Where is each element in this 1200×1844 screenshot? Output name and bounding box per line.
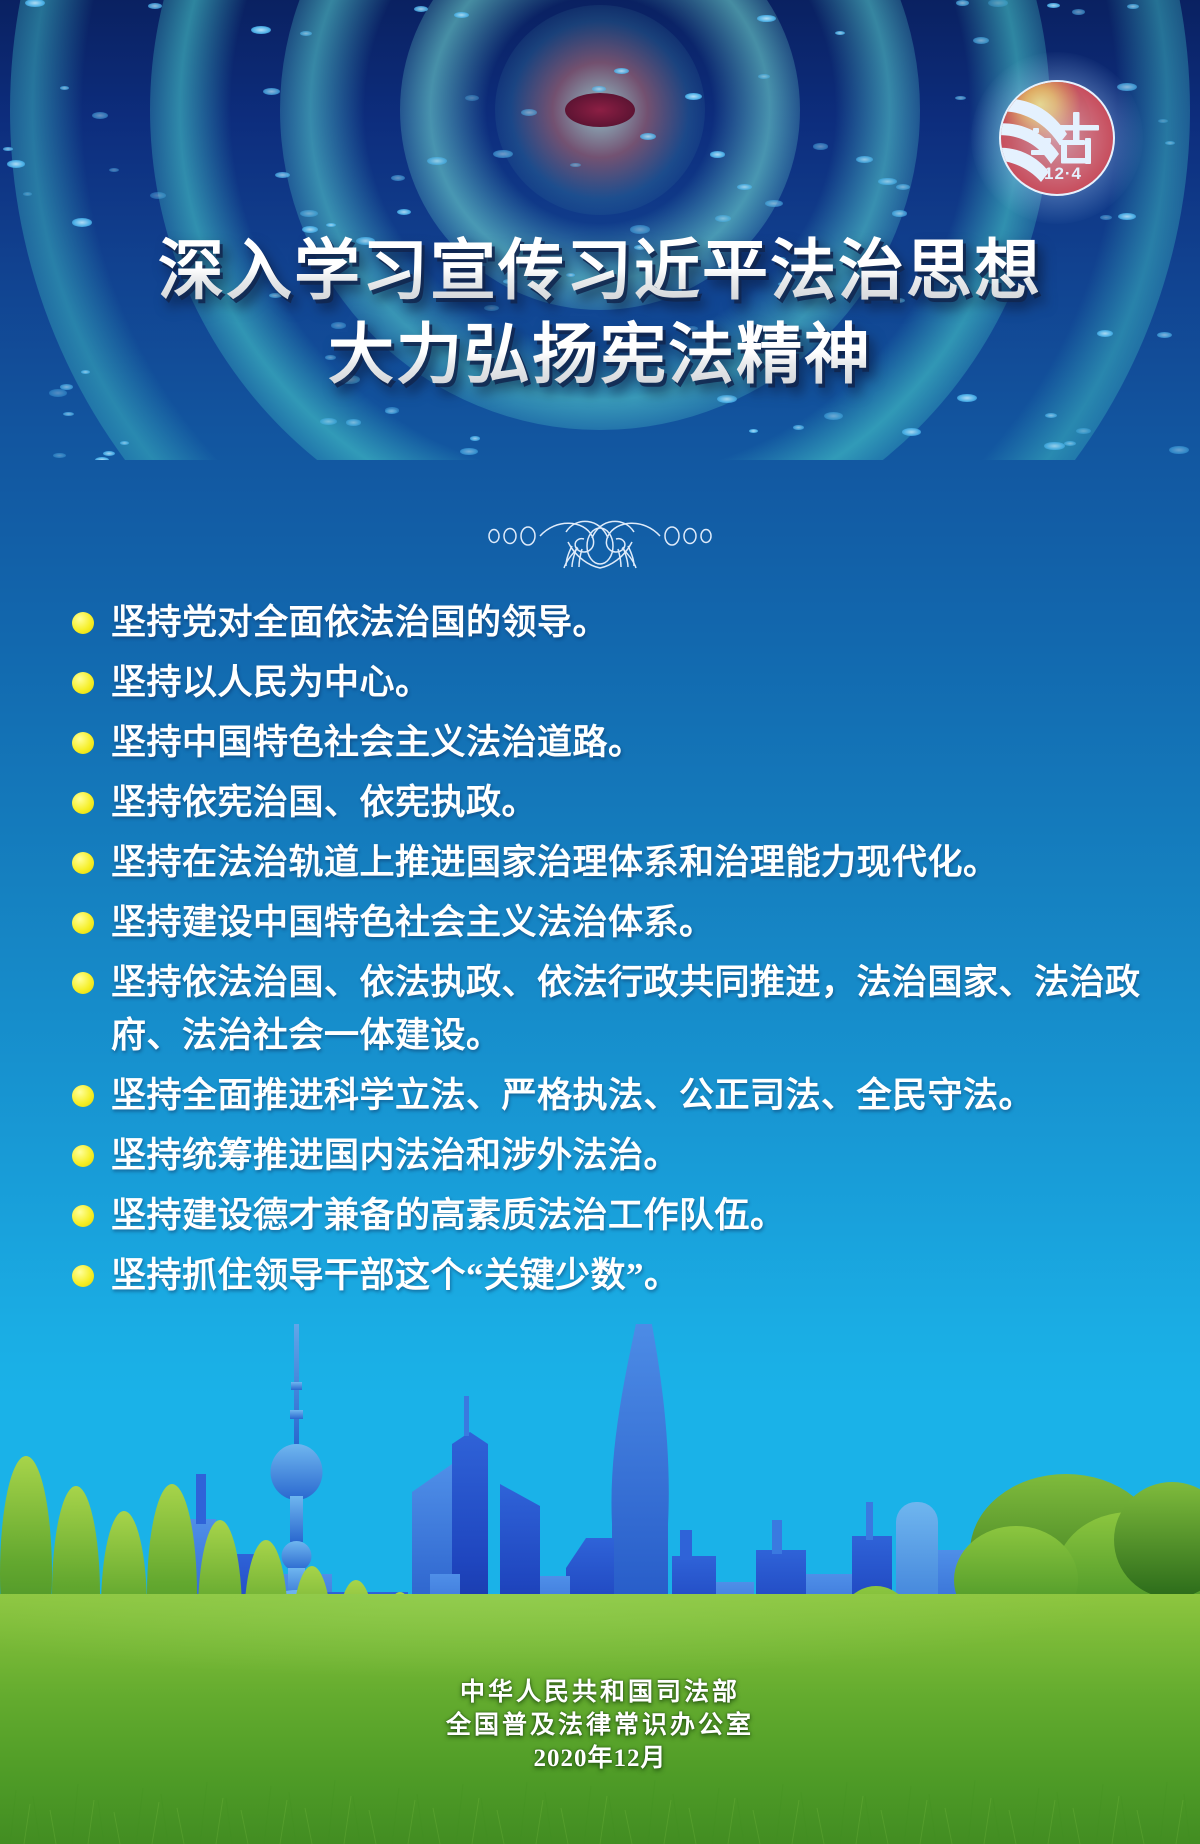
list-item-text: 坚持党对全面依法治国的领导。 — [111, 596, 608, 649]
starfield-dot — [25, 0, 45, 7]
starfield-dot — [793, 425, 804, 430]
starfield-dot — [710, 151, 725, 157]
list-item: 坚持党对全面依法治国的领导。 — [72, 596, 1152, 649]
flourish-icon — [0, 512, 1200, 576]
starfield-dot — [835, 31, 845, 35]
starfield-dot — [1158, 119, 1168, 123]
starfield-dot — [251, 26, 271, 34]
starfield-dot — [3, 147, 12, 151]
footer-credits: 中华人民共和国司法部 全国普及法律常识办公室 2020年12月 — [0, 1676, 1200, 1776]
starfield-dot — [320, 418, 337, 425]
starfield-dot — [493, 150, 513, 158]
starfield-dot — [300, 31, 312, 36]
starfield-dot — [1118, 213, 1136, 221]
bullet-dot-icon — [72, 1085, 94, 1107]
starfield-dot — [955, 96, 965, 100]
starfield-dot — [1045, 413, 1057, 418]
starfield-dot — [385, 409, 397, 414]
starfield-dot — [988, 0, 1008, 7]
list-item: 坚持以人民为中心。 — [72, 656, 1152, 709]
starfield-dot — [1165, 141, 1174, 145]
emblem-glow — [971, 52, 1143, 224]
ornamental-divider — [0, 512, 1200, 576]
starfield-dot — [53, 453, 66, 459]
starfield-dot — [326, 223, 336, 227]
list-item-text: 坚持统筹推进国内法治和涉外法治。 — [111, 1129, 679, 1182]
starfield-dot — [856, 156, 874, 164]
starfield-dot — [1072, 9, 1086, 15]
starfield-dot — [1169, 446, 1189, 454]
bullet-dot-icon — [72, 1205, 94, 1227]
starfield-dot — [109, 168, 119, 172]
list-item: 坚持建设德才兼备的高素质法治工作队伍。 — [72, 1189, 1152, 1242]
poster-canvas: 12·4 深入学习宣传习近平法治思想 大力弘扬宪法精神 — [0, 0, 1200, 1844]
bullet-dot-icon — [72, 612, 94, 634]
starfield-dot — [414, 6, 428, 12]
starfield-dot — [148, 3, 161, 9]
starfield-dot — [92, 112, 108, 119]
starfield-dot — [892, 210, 907, 216]
bullet-dot-icon — [72, 792, 94, 814]
list-item: 坚持全面推进科学立法、严格执法、公正司法、全民守法。 — [72, 1069, 1152, 1122]
footer-organization: 中华人民共和国司法部 — [0, 1676, 1200, 1709]
starfield-dot — [275, 172, 290, 178]
starfield-dot — [103, 451, 115, 456]
title-line-1: 深入学习宣传习近平法治思想 — [0, 228, 1200, 312]
list-item-text: 坚持在法治轨道上推进国家治理体系和治理能力现代化。 — [111, 836, 999, 889]
list-item-text: 坚持中国特色社会主义法治道路。 — [111, 716, 644, 769]
starfield-dot — [72, 218, 92, 226]
starfield-dot — [1047, 3, 1060, 8]
starfield-dot — [973, 37, 989, 44]
starfield-dot — [1127, 4, 1138, 9]
starfield-dot — [23, 192, 32, 196]
starfield-dot — [685, 93, 701, 100]
starfield-dot — [592, 86, 606, 92]
starfield-dot — [465, 95, 480, 101]
starfield-dot — [1100, 215, 1111, 220]
footer-date: 2020年12月 — [0, 1742, 1200, 1776]
principles-list: 坚持党对全面依法治国的领导。坚持以人民为中心。坚持中国特色社会主义法治道路。坚持… — [72, 596, 1152, 1309]
starfield-dot — [715, 215, 731, 222]
list-item-text: 坚持依宪治国、依宪执政。 — [111, 776, 537, 829]
bullet-dot-icon — [72, 972, 94, 994]
starfield-dot — [1064, 441, 1076, 446]
constitution-day-emblem: 12·4 — [997, 78, 1117, 198]
bullet-dot-icon — [72, 912, 94, 934]
starfield-dot — [460, 448, 478, 456]
starfield-dot — [1076, 428, 1091, 434]
starfield-dot — [63, 412, 74, 417]
list-item: 坚持依宪治国、依宪执政。 — [72, 776, 1152, 829]
starfield-dot — [640, 133, 656, 140]
starfield-dot — [150, 192, 166, 199]
bullet-dot-icon — [72, 852, 94, 874]
list-item-text: 坚持依法治国、依法执政、依法行政共同推进，法治国家、法治政府、法治社会一体建设。 — [111, 956, 1152, 1062]
bullet-dot-icon — [72, 672, 94, 694]
starfield-dot — [765, 200, 783, 207]
starfield-dot — [749, 429, 758, 433]
starfield-dot — [757, 15, 776, 23]
starfield-dot — [7, 160, 26, 168]
starfield-dot — [397, 209, 412, 215]
starfield-dot — [570, 163, 581, 168]
bullet-dot-icon — [72, 732, 94, 754]
list-item: 坚持在法治轨道上推进国家治理体系和治理能力现代化。 — [72, 836, 1152, 889]
starfield-dot — [1044, 442, 1064, 451]
list-item-text: 坚持以人民为中心。 — [111, 656, 431, 709]
bullet-dot-icon — [72, 1145, 94, 1167]
starfield-dot — [737, 184, 752, 191]
list-item: 坚持统筹推进国内法治和涉外法治。 — [72, 1129, 1152, 1182]
starfield-dot — [470, 436, 481, 441]
starfield-dot — [896, 184, 910, 190]
starfield-dot — [956, 0, 969, 5]
starfield-dot — [60, 86, 69, 90]
starfield-dot — [454, 12, 469, 18]
list-item-text: 坚持全面推进科学立法、严格执法、公正司法、全民守法。 — [111, 1069, 1034, 1122]
starfield-dot — [391, 175, 405, 181]
list-item-text: 坚持建设德才兼备的高素质法治工作队伍。 — [111, 1189, 786, 1242]
starfield-dot — [521, 109, 537, 116]
starfield-dot — [824, 412, 843, 420]
title-line-2: 大力弘扬宪法精神 — [0, 312, 1200, 396]
starfield-dot — [346, 419, 361, 426]
list-item-text: 坚持建设中国特色社会主义法治体系。 — [111, 896, 715, 949]
footer-office: 全国普及法律常识办公室 — [0, 1709, 1200, 1742]
list-item: 坚持中国特色社会主义法治道路。 — [72, 716, 1152, 769]
starfield-dot — [813, 143, 829, 150]
starfield-dot — [614, 68, 629, 74]
starfield-dot — [902, 428, 921, 436]
starfield-dot — [427, 157, 447, 165]
list-item: 坚持依法治国、依法执政、依法行政共同推进，法治国家、法治政府、法治社会一体建设。 — [72, 956, 1152, 1062]
starfield-dot — [300, 210, 317, 217]
starfield-dot — [95, 457, 110, 460]
starfield-dot — [120, 441, 129, 445]
starfield-dot — [878, 178, 897, 186]
starfield-dot — [263, 88, 280, 95]
starfield-dot — [758, 74, 770, 79]
list-item: 坚持建设中国特色社会主义法治体系。 — [72, 896, 1152, 949]
page-title: 深入学习宣传习近平法治思想 大力弘扬宪法精神 — [0, 228, 1200, 396]
